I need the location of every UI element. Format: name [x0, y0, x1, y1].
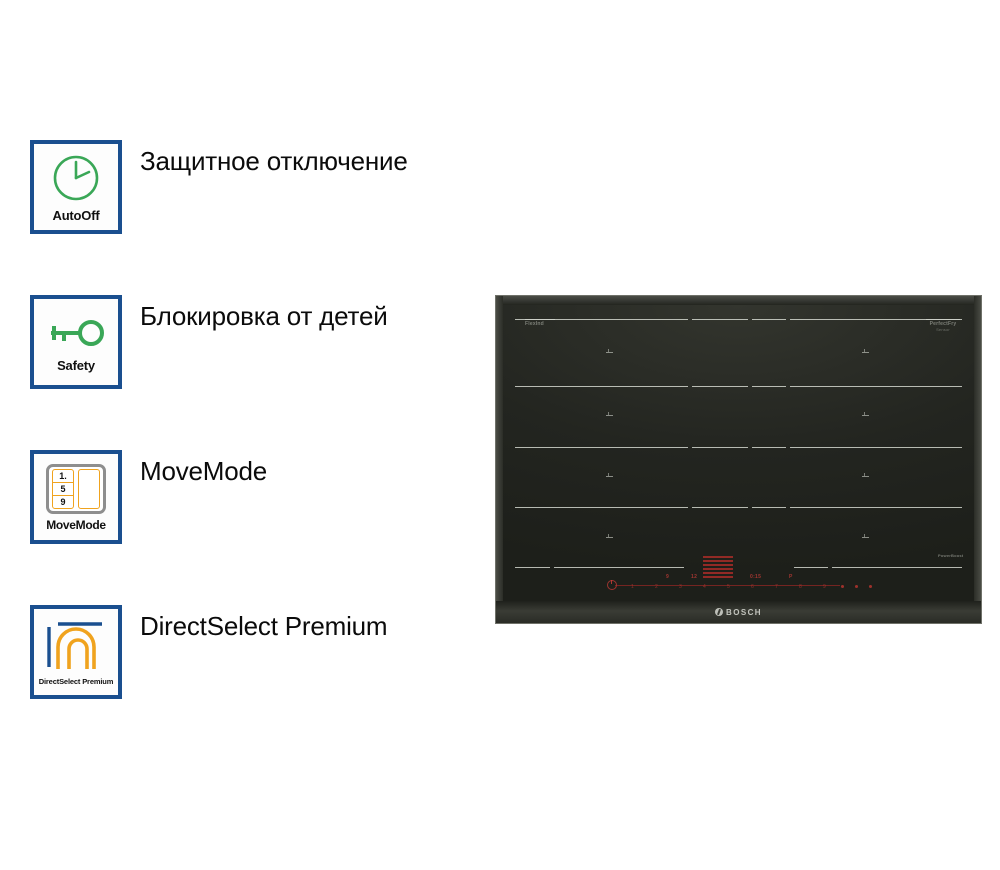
- cooktop-zone-tick: [606, 537, 613, 538]
- feature-row-move-mode: 1. 5 9 MoveMode MoveMode: [30, 450, 267, 544]
- cooktop-glass-surface: FlexInd PerfectFry Sensor PowerBoost: [503, 305, 974, 601]
- cooktop-mark-top-right: PerfectFry Sensor: [926, 319, 960, 332]
- bosch-mark-icon: [715, 608, 723, 616]
- cooktop-zone-rule: [503, 386, 974, 387]
- badge-caption: DirectSelect Premium: [39, 678, 114, 686]
- feature-row-safety: Safety Блокировка от детей: [30, 295, 388, 389]
- badge-move-mode: 1. 5 9 MoveMode: [30, 450, 122, 544]
- control-indicator: 0:15: [750, 574, 761, 580]
- feature-row-direct-select: DirectSelect Premium DirectSelect Premiu…: [30, 605, 387, 699]
- cooktop-zone-tick: [606, 352, 613, 353]
- badge-safety: Safety: [30, 295, 122, 389]
- cooktop-zone-rule: [503, 507, 974, 508]
- scale-number: 5: [727, 584, 730, 590]
- cooktop-zone-rule: [503, 319, 974, 320]
- feature-row-auto-off: AutoOff Защитное отключение: [30, 140, 408, 234]
- control-indicator: 12: [691, 574, 697, 580]
- move-mode-tile-value: 9: [53, 496, 73, 508]
- move-mode-empty-tile: [78, 469, 100, 509]
- control-dot[interactable]: [869, 585, 872, 588]
- scale-number: 9: [823, 584, 826, 590]
- cooktop-zone-tick: [862, 415, 869, 416]
- control-indicator: P: [789, 574, 793, 580]
- move-mode-icon: 1. 5 9: [46, 464, 106, 514]
- cooktop-bezel-bottom: BOSCH: [496, 601, 981, 623]
- scale-number: 4: [703, 584, 706, 590]
- feature-label: DirectSelect Premium: [140, 605, 387, 642]
- cooktop-bezel-top: [496, 296, 981, 305]
- bosch-wordmark: BOSCH: [726, 608, 762, 617]
- move-mode-tile-value: 1.: [53, 470, 73, 483]
- heat-level-bars: [703, 556, 733, 578]
- control-dot[interactable]: [841, 585, 844, 588]
- scale-number: 6: [751, 584, 754, 590]
- cooktop-control-panel[interactable]: 9 12 0:15 P 1 2 3 4 5 6 7 8 9: [503, 541, 974, 595]
- cooktop-bezel-right: [974, 296, 981, 623]
- cooktop-zone-tick: [862, 537, 869, 538]
- control-dot[interactable]: [855, 585, 858, 588]
- scale-number: 2: [655, 584, 658, 590]
- cooktop-zone-tick: [862, 352, 869, 353]
- product-image-cooktop: FlexInd PerfectFry Sensor PowerBoost: [496, 296, 981, 623]
- scale-number: 8: [799, 584, 802, 590]
- cooktop-zone-tick: [606, 415, 613, 416]
- cooktop-bezel-left: [496, 296, 503, 623]
- scale-number: 3: [679, 584, 682, 590]
- feature-label: Защитное отключение: [140, 140, 408, 177]
- control-indicator: 9: [666, 574, 669, 580]
- feature-label: Блокировка от детей: [140, 295, 388, 332]
- feature-label: MoveMode: [140, 450, 267, 487]
- feature-list: AutoOff Защитное отключение Safety Блоки…: [0, 0, 470, 870]
- cooktop-zone-tick: [606, 476, 613, 477]
- badge-direct-select: DirectSelect Premium: [30, 605, 122, 699]
- cooktop-zone-tick: [862, 476, 869, 477]
- cooktop-mark-top-left: FlexInd: [525, 319, 555, 327]
- scale-number: 1: [631, 584, 634, 590]
- badge-auto-off: AutoOff: [30, 140, 122, 234]
- bosch-logo: BOSCH: [715, 608, 762, 617]
- direct-select-premium-icon: [44, 619, 108, 673]
- badge-caption: AutoOff: [53, 209, 100, 222]
- auto-off-clock-icon: [51, 153, 101, 203]
- scale-number: 7: [775, 584, 778, 590]
- move-mode-tile-value: 5: [53, 483, 73, 496]
- safety-key-icon: [45, 313, 107, 353]
- badge-caption: Safety: [57, 359, 95, 372]
- cooktop-zone-rule: [503, 447, 974, 448]
- badge-caption: MoveMode: [46, 519, 106, 531]
